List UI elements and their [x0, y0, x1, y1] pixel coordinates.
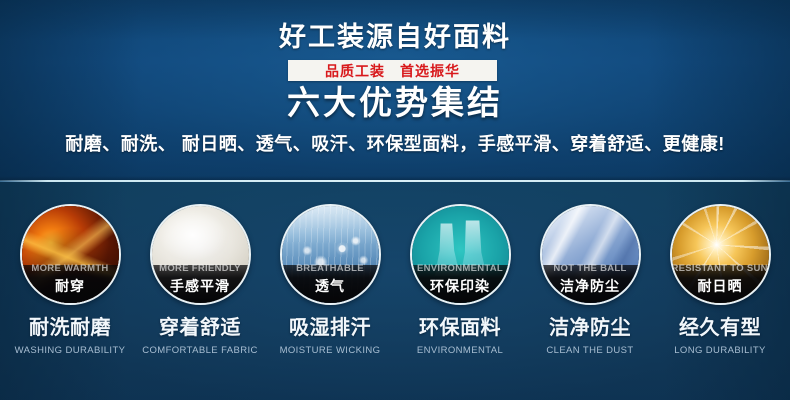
- circle-caption-cn: 耐日晒: [672, 279, 769, 293]
- slogan-band: 品质工装 首选振华: [288, 60, 497, 81]
- feature-item[interactable]: MORE WARMTH 耐穿 耐洗耐磨 WASHING DURABILITY: [20, 204, 121, 356]
- slogan-text: 品质工装 首选振华: [288, 64, 497, 78]
- feature-label-cn: 耐洗耐磨: [29, 318, 111, 338]
- headline-secondary: 六大优势集结: [0, 86, 790, 119]
- feature-circle[interactable]: ENVIRONMENTAL 环保印染: [410, 204, 511, 305]
- circle-caption-cn: 透气: [282, 279, 379, 293]
- feature-label-cn: 吸湿排汗: [289, 318, 371, 338]
- tagline-text: 耐磨、耐洗、 耐日晒、透气、吸汗、环保型面料，手感平滑、穿着舒适、更健康!: [0, 135, 790, 153]
- circle-caption-cn: 洁净防尘: [542, 279, 639, 293]
- feature-label-en: ENVIRONMENTAL: [417, 346, 503, 356]
- feature-circle[interactable]: BREATHABLE 透气: [280, 204, 381, 305]
- feature-label-cn: 经久有型: [679, 318, 761, 338]
- feature-label-en: WASHING DURABILITY: [15, 346, 126, 356]
- circle-caption-en: BREATHABLE: [282, 264, 379, 274]
- circle-caption-en: MORE WARMTH: [22, 264, 119, 274]
- features-section: MORE WARMTH 耐穿 耐洗耐磨 WASHING DURABILITY M…: [0, 182, 790, 400]
- circle-caption-en: NOT THE BALL: [542, 264, 639, 274]
- feature-label-en: LONG DURABILITY: [674, 346, 766, 356]
- circle-caption-en: RESISTANT TO SUNLIGHT: [672, 264, 769, 274]
- promo-banner: 好工装源自好面料 品质工装 首选振华 六大优势集结 耐磨、耐洗、 耐日晒、透气、…: [0, 0, 790, 400]
- feature-label-en: COMFORTABLE FABRIC: [142, 346, 258, 356]
- feature-item[interactable]: NOT THE BALL 洁净防尘 洁净防尘 CLEAN THE DUST: [540, 204, 641, 356]
- headline-primary: 好工装源自好面料: [0, 24, 790, 51]
- banner-header: 好工装源自好面料 品质工装 首选振华 六大优势集结 耐磨、耐洗、 耐日晒、透气、…: [0, 0, 790, 181]
- feature-label-cn: 穿着舒适: [159, 318, 241, 338]
- circle-caption-cn: 环保印染: [412, 279, 509, 293]
- feature-item[interactable]: MORE FRIENDLY 手感平滑 穿着舒适 COMFORTABLE FABR…: [150, 204, 251, 356]
- circle-caption-cn: 耐穿: [22, 279, 119, 293]
- feature-item[interactable]: RESISTANT TO SUNLIGHT 耐日晒 经久有型 LONG DURA…: [670, 204, 771, 356]
- circle-caption-en: ENVIRONMENTAL: [412, 264, 509, 274]
- circle-caption-en: MORE FRIENDLY: [152, 264, 249, 274]
- feature-label-en: CLEAN THE DUST: [546, 346, 633, 356]
- feature-list: MORE WARMTH 耐穿 耐洗耐磨 WASHING DURABILITY M…: [0, 182, 790, 400]
- feature-label-en: MOISTURE WICKING: [280, 346, 381, 356]
- feature-item[interactable]: BREATHABLE 透气 吸湿排汗 MOISTURE WICKING: [280, 204, 381, 356]
- feature-circle[interactable]: MORE WARMTH 耐穿: [20, 204, 121, 305]
- feature-label-cn: 洁净防尘: [549, 318, 631, 338]
- feature-item[interactable]: ENVIRONMENTAL 环保印染 环保面料 ENVIRONMENTAL: [410, 204, 511, 356]
- circle-caption-cn: 手感平滑: [152, 279, 249, 293]
- feature-circle[interactable]: NOT THE BALL 洁净防尘: [540, 204, 641, 305]
- feature-circle[interactable]: MORE FRIENDLY 手感平滑: [150, 204, 251, 305]
- feature-label-cn: 环保面料: [419, 318, 501, 338]
- feature-circle[interactable]: RESISTANT TO SUNLIGHT 耐日晒: [670, 204, 771, 305]
